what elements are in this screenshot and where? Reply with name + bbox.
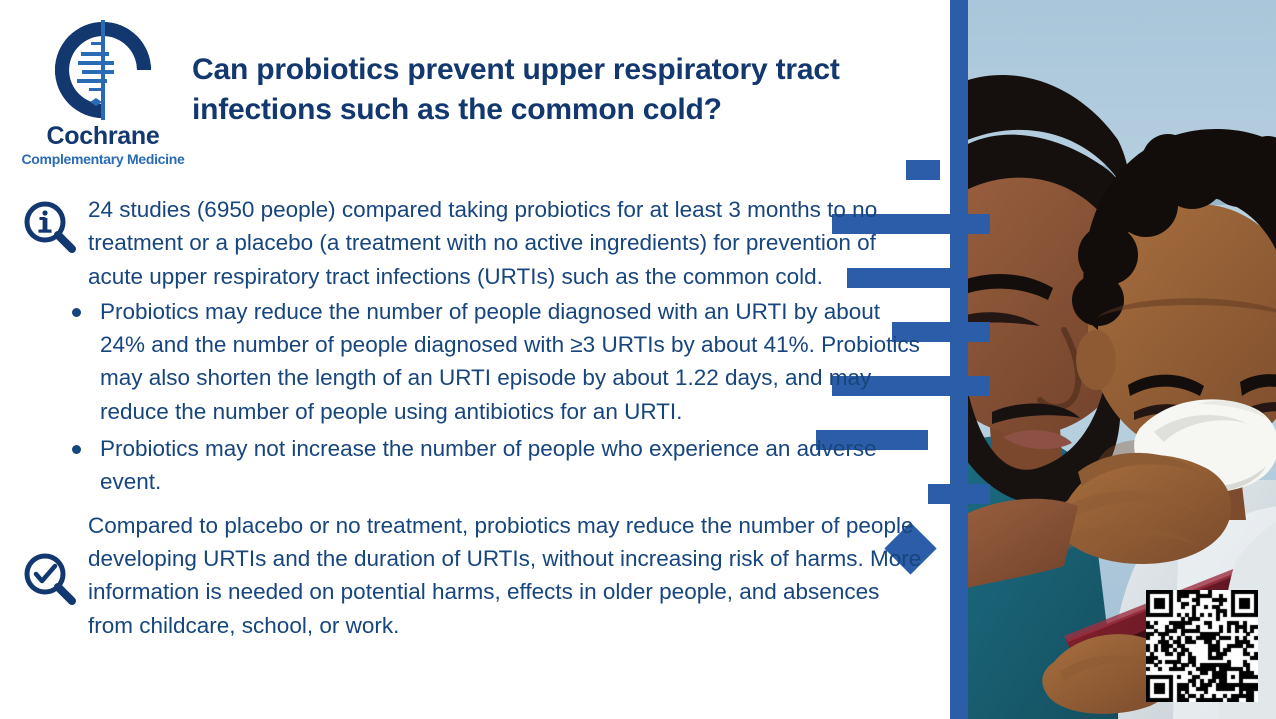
logo-subtitle: Complementary Medicine — [14, 152, 192, 166]
cochrane-logo: Cochrane Complementary Medicine — [14, 18, 192, 178]
finding-text: Probiotics may not increase the number o… — [100, 436, 877, 494]
forest-vertical-line — [950, 0, 968, 719]
conclusion-text: Compared to placebo or no treatment, pro… — [88, 509, 922, 642]
list-item: Probiotics may not increase the number o… — [58, 432, 922, 499]
body-copy: 24 studies (6950 people) compared taking… — [22, 193, 922, 642]
summary-text: 24 studies (6950 people) compared taking… — [88, 193, 922, 293]
bullet-dot-icon — [72, 308, 81, 317]
magnifier-info-icon — [22, 199, 80, 257]
list-item: Probiotics may reduce the number of peop… — [58, 295, 922, 428]
qr-code[interactable] — [1146, 590, 1258, 702]
forest-bar-1 — [906, 160, 940, 180]
poster-canvas: Cochrane Complementary Medicine Can prob… — [0, 0, 1276, 719]
cochrane-logo-icon — [51, 18, 155, 122]
magnifier-check-icon — [22, 551, 80, 609]
summary-block: 24 studies (6950 people) compared taking… — [22, 193, 922, 293]
findings-list: Probiotics may reduce the number of peop… — [58, 295, 922, 499]
logo-wordmark: Cochrane — [14, 124, 192, 149]
finding-text: Probiotics may reduce the number of peop… — [100, 299, 920, 424]
bullet-dot-icon — [72, 445, 81, 454]
conclusion-block: Compared to placebo or no treatment, pro… — [22, 509, 922, 642]
page-title: Can probiotics prevent upper respiratory… — [192, 50, 892, 129]
